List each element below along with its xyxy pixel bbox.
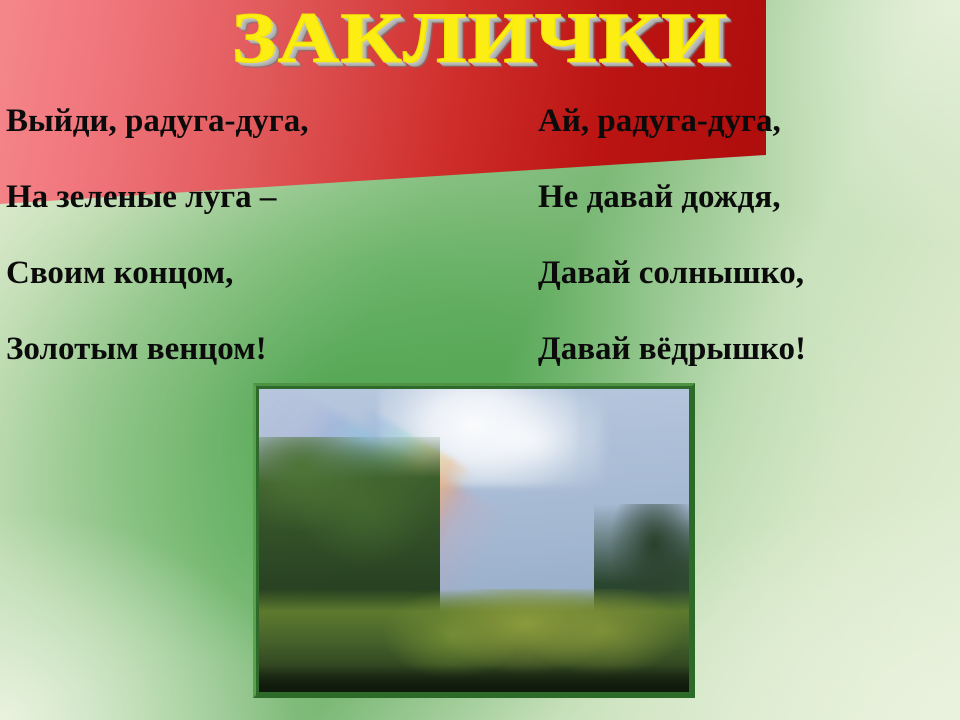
photo-cloud-secondary bbox=[457, 395, 603, 486]
verse-line: Давай вёдрышко! bbox=[538, 311, 806, 387]
verse-line: Своим концом, bbox=[6, 235, 308, 311]
verse-left-column: Выйди, радуга-дуга, На зеленые луга – Св… bbox=[6, 83, 308, 387]
verse-line: На зеленые луга – bbox=[6, 159, 308, 235]
rainbow-photo bbox=[259, 389, 689, 692]
verse-line: Ай, радуга-дуга, bbox=[538, 83, 806, 159]
verse-line: Давай солнышко, bbox=[538, 235, 806, 311]
slide: ЗАКЛИЧКИ Выйди, радуга-дуга, На зеленые … bbox=[0, 0, 960, 720]
rainbow-photo-frame bbox=[253, 383, 695, 698]
verse-line: Не давай дождя, bbox=[538, 159, 806, 235]
photo-ground-shadow bbox=[259, 665, 689, 692]
verse-right-column: Ай, радуга-дуга, Не давай дождя, Давай с… bbox=[538, 83, 806, 387]
verse-line: Выйди, радуга-дуга, bbox=[6, 83, 308, 159]
verse-line: Золотым венцом! bbox=[6, 311, 308, 387]
page-title: ЗАКЛИЧКИ bbox=[0, 2, 960, 74]
